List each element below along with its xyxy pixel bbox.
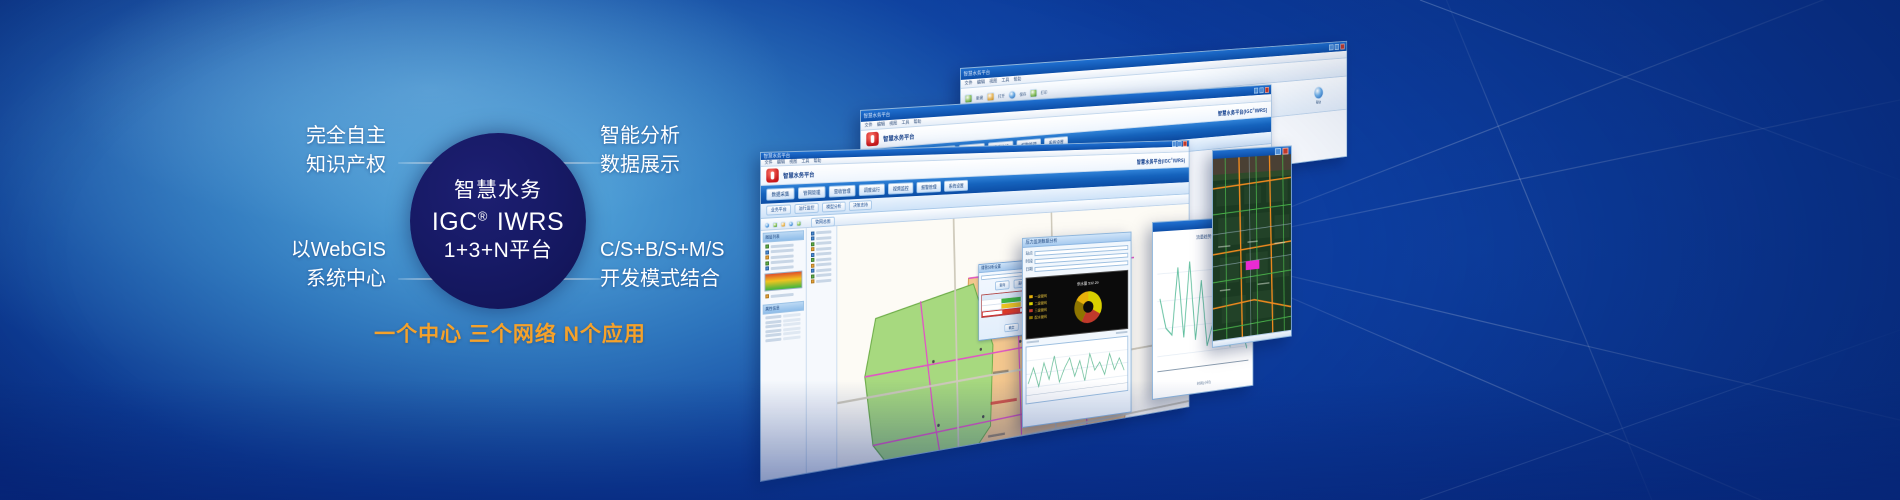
- layer-dot-icon: [765, 250, 769, 254]
- layer-dot-icon: [765, 266, 769, 270]
- feature-dot-icon: [811, 236, 814, 240]
- pie-legend: 一级管网 二级管网 三级管网 配水管网: [1029, 294, 1047, 321]
- brand-title-tail: IWRS): [1255, 108, 1268, 115]
- menu-file[interactable]: 文件: [964, 80, 972, 87]
- close-icon[interactable]: [1265, 87, 1269, 93]
- print-icon[interactable]: [1030, 89, 1038, 98]
- feature-dot-icon: [811, 269, 814, 273]
- core-title: 智慧水务: [454, 178, 542, 204]
- menu-help[interactable]: 帮助: [914, 119, 922, 125]
- window-front-brand-title: 智慧水务平台(IGC®IWRS): [1137, 155, 1185, 165]
- window-mid-brand-title: 智慧水务平台(IGC®IWRS): [1218, 105, 1267, 117]
- menu-tools[interactable]: 工具: [801, 158, 809, 164]
- window-mid-brand-name: 智慧水务平台: [883, 131, 914, 142]
- pie-legend-2: 二级管网: [1035, 301, 1047, 306]
- window-mid-title: 智慧水务平台: [864, 111, 891, 120]
- pipe-burst-ok-button[interactable]: 确定: [1004, 323, 1018, 333]
- close-icon[interactable]: [1340, 43, 1344, 49]
- brand-title-main: 智慧水务平台(IGC: [1218, 109, 1253, 117]
- feature-top-left-line1: 完全自主: [186, 122, 386, 151]
- save-icon[interactable]: [1008, 90, 1016, 99]
- feature-bottom-left: 以WebGIS 系统中心: [186, 236, 386, 294]
- menu-help[interactable]: 帮助: [814, 158, 822, 164]
- core-iwrs: IWRS: [497, 208, 564, 236]
- brand-title-tail: IWRS): [1173, 158, 1185, 164]
- subnav-decision[interactable]: 决策支持: [849, 200, 872, 211]
- satellite-map-window[interactable]: [1212, 145, 1292, 348]
- layer-panel-title: 图层列表: [763, 230, 804, 243]
- nav-video[interactable]: 视频监控: [888, 182, 913, 194]
- nav-dispatch[interactable]: 调度运行: [859, 183, 885, 196]
- platform-diagram: 智慧水务 IGC®IWRS 1+3+N平台 完全自主 知识产权 以WebGIS …: [0, 0, 820, 500]
- monitor-analysis-window[interactable]: 压力监测数据分析 站点 时段 日期 一级管网 二级: [1022, 232, 1131, 428]
- field-label-station: 站点: [1026, 250, 1033, 256]
- status-badge-red: [1002, 308, 1021, 314]
- gis-map-svg: [837, 204, 1188, 482]
- feature-dot-icon: [811, 263, 814, 267]
- nav-revenue[interactable]: 营收管理: [829, 185, 856, 198]
- water-drop-logo-icon: [766, 168, 778, 182]
- feature-dot-icon: [811, 247, 814, 251]
- pie-legend-1: 一级管网: [1035, 294, 1047, 299]
- feature-top-left: 完全自主 知识产权: [186, 122, 386, 180]
- layer-dot-icon: [765, 261, 769, 265]
- nav-pipe-network[interactable]: 管网管理: [798, 186, 825, 199]
- feature-dot-icon: [811, 231, 814, 235]
- layer-dot-icon: [765, 255, 769, 259]
- toolbar-label-print: 打印: [1041, 89, 1048, 95]
- satellite-map-controls[interactable]: [1275, 147, 1289, 155]
- feature-dot-icon: [811, 274, 814, 278]
- screenshot-stack: 智慧水务平台 文件 编辑 视图 工具 帮助 新建 打开 保存: [760, 0, 1900, 500]
- window-back-controls[interactable]: [1329, 43, 1345, 50]
- field-label-period: 时段: [1026, 258, 1033, 264]
- pie-chart-svg: [1071, 286, 1105, 328]
- menu-edit[interactable]: 编辑: [777, 159, 785, 165]
- core-circle-badge: 智慧水务 IGC®IWRS 1+3+N平台: [410, 133, 586, 309]
- feature-bottom-left-line2: 系统中心: [186, 265, 386, 294]
- maximize-icon[interactable]: [1259, 87, 1263, 93]
- minimize-icon[interactable]: [1254, 88, 1258, 94]
- help-icon[interactable]: [1314, 86, 1324, 100]
- zoom-out-icon[interactable]: [780, 221, 785, 227]
- banner-root: 智慧水务 IGC®IWRS 1+3+N平台 完全自主 知识产权 以WebGIS …: [0, 0, 1900, 500]
- menu-file[interactable]: 文件: [864, 122, 872, 129]
- measure-icon[interactable]: [796, 221, 801, 227]
- minimize-icon[interactable]: [1329, 44, 1333, 50]
- legend-gradient: [764, 271, 802, 292]
- feature-dot-icon: [811, 279, 814, 283]
- subnav-monitor[interactable]: 运行监控: [795, 203, 819, 214]
- nav-alarm[interactable]: 报警管理: [916, 181, 941, 193]
- registered-mark-icon: ®: [478, 209, 488, 224]
- pan-icon[interactable]: [764, 222, 769, 228]
- nav-settings[interactable]: 系统设置: [944, 180, 968, 192]
- feature-tree-panel[interactable]: [807, 226, 838, 482]
- map-zone-builtup-2: [902, 478, 1028, 482]
- menu-view[interactable]: 视图: [889, 120, 897, 126]
- gis-map-canvas[interactable]: 爆管分析设置 查询 清除: [837, 204, 1188, 482]
- subnav-platform[interactable]: 业务平台: [766, 204, 791, 215]
- toolbar-label-new: 新建: [976, 95, 983, 102]
- select-icon[interactable]: [788, 221, 793, 227]
- core-igc: IGC: [432, 208, 478, 236]
- pie-legend-3: 三级管网: [1035, 308, 1047, 313]
- window-back-title: 智慧水务平台: [964, 69, 991, 78]
- feature-bottom-left-line1: 以WebGIS: [186, 236, 386, 265]
- layer-dot-icon: [765, 294, 769, 298]
- feature-top-left-line2: 知识产权: [186, 151, 386, 180]
- field-label-date: 日期: [1026, 266, 1033, 273]
- zoom-in-icon[interactable]: [773, 222, 778, 228]
- window-front-brand-name: 智慧水务平台: [783, 170, 814, 180]
- layer-panel[interactable]: 图层列表 属性信息: [761, 228, 807, 482]
- map-highlight-area: [1246, 260, 1260, 270]
- maximize-icon[interactable]: [1335, 44, 1339, 50]
- bigicon-label-help: 帮助: [1316, 99, 1321, 105]
- feature-dot-icon: [811, 258, 814, 262]
- tagline: 一个中心 三个网络 N个应用: [300, 318, 720, 348]
- close-icon[interactable]: [1283, 147, 1289, 154]
- satellite-map-svg: [1213, 154, 1291, 341]
- menu-view[interactable]: 视图: [989, 78, 997, 85]
- pipe-burst-query-button[interactable]: 查询: [995, 280, 1009, 290]
- brand-title-main: 智慧水务平台(IGC: [1137, 158, 1171, 165]
- window-mid-controls[interactable]: [1254, 87, 1269, 94]
- supply-pie-chart: 一级管网 二级管网 三级管网 配水管网 供水量 532.29: [1026, 270, 1129, 340]
- pie-legend-4: 配水管网: [1035, 315, 1047, 320]
- core-product-code: IGC®IWRS: [432, 207, 564, 237]
- feature-dot-icon: [811, 252, 814, 256]
- layer-item[interactable]: [765, 291, 804, 299]
- feature-item[interactable]: [811, 278, 835, 284]
- menu-view[interactable]: 视图: [789, 159, 797, 165]
- menu-file[interactable]: 文件: [764, 160, 772, 166]
- secondary-line-chart-svg: [1026, 337, 1127, 404]
- menu-help[interactable]: 帮助: [1014, 76, 1022, 82]
- menu-tools[interactable]: 工具: [1001, 77, 1009, 83]
- open-icon[interactable]: [987, 92, 995, 102]
- feature-dot-icon: [811, 242, 814, 246]
- menu-edit[interactable]: 编辑: [877, 121, 885, 127]
- bigicon-help[interactable]: 帮助: [1314, 86, 1324, 105]
- layer-dot-icon: [765, 244, 769, 248]
- core-platform-label: 1+3+N平台: [444, 237, 553, 264]
- toolbar-label-save: 保存: [1020, 91, 1027, 97]
- nav-data-collection[interactable]: 数据采集: [766, 187, 794, 200]
- subnav-model[interactable]: 模型分析: [822, 202, 846, 213]
- water-drop-logo-icon: [866, 132, 878, 147]
- minimize-icon[interactable]: [1275, 148, 1281, 155]
- menu-tools[interactable]: 工具: [901, 120, 909, 126]
- menu-edit[interactable]: 编辑: [977, 79, 985, 86]
- toolbar-label-open: 打开: [998, 93, 1005, 99]
- secondary-line-chart: [1026, 336, 1129, 405]
